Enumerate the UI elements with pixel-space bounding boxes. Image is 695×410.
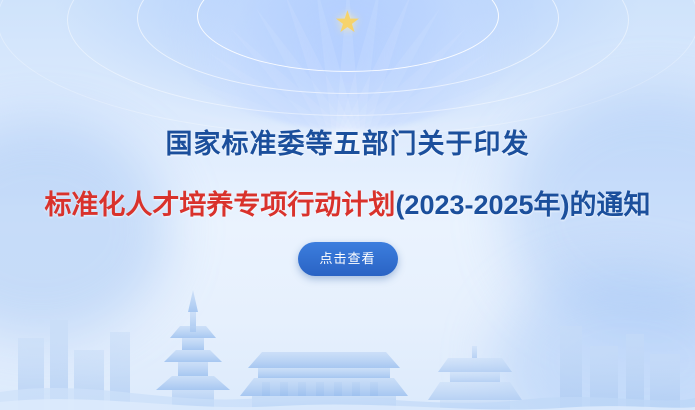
view-details-button[interactable]: 点击查看 — [298, 242, 398, 276]
banner-content: 国家标准委等五部门关于印发 标准化人才培养专项行动计划(2023-2025年)的… — [0, 0, 695, 410]
announcement-banner: ★ — [0, 0, 695, 410]
page-title-line-1: 国家标准委等五部门关于印发 — [0, 122, 695, 161]
page-title-suffix: (2023-2025年)的通知 — [395, 190, 650, 220]
page-title-highlight: 标准化人才培养专项行动计划 — [44, 190, 395, 220]
page-title-line-2: 标准化人才培养专项行动计划(2023-2025年)的通知 — [0, 183, 695, 222]
